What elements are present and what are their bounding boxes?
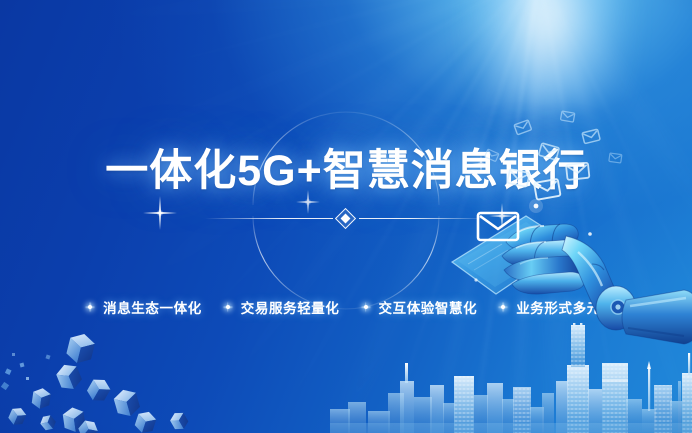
page-title: 一体化5G+智慧消息银行	[0, 150, 692, 193]
light-rays-icon	[0, 0, 692, 433]
feature-label: 交互体验智慧化	[379, 297, 478, 317]
envelope-group	[470, 105, 650, 265]
envelope-icon	[478, 213, 518, 240]
diamond-icon	[335, 208, 356, 229]
feature-item-0: 消息生态一体化	[103, 297, 215, 317]
envelope-icon	[582, 129, 600, 144]
sparkle-icon	[353, 300, 379, 314]
city-skyline-icon	[330, 323, 692, 433]
feature-label: 消息生态一体化	[103, 297, 202, 317]
sparkle-icon	[490, 300, 516, 314]
feature-label: 业务形式多元化	[516, 297, 615, 317]
page-title-text: 一体化5G+智慧消息银行	[105, 147, 586, 195]
divider-line-right	[359, 218, 487, 219]
divider-line-left	[205, 218, 333, 219]
feature-list: 消息生态一体化 交易服务轻量化 交互体验智慧化 业务形式多元化	[0, 297, 692, 317]
robot-hand-icon	[440, 170, 692, 355]
feature-item-2: 交互体验智慧化	[379, 297, 491, 317]
envelope-icon	[514, 120, 532, 135]
sparkle-icon	[296, 190, 320, 214]
circle-outline-icon	[0, 0, 692, 433]
light-source-glow	[468, 0, 628, 110]
sparkle-icon	[77, 300, 103, 314]
envelope-icon	[539, 143, 560, 160]
envelope-icon	[507, 169, 529, 187]
feature-item-3: 业务形式多元化	[516, 297, 615, 317]
sparkle-icon	[143, 196, 177, 230]
title-divider	[205, 211, 487, 227]
sparkle-icon	[472, 155, 490, 173]
envelope-icon	[485, 149, 499, 162]
banner-stage: 一体化5G+智慧消息银行 消息生态一体化 交易服务轻量化	[0, 0, 692, 433]
sparkle-icon	[215, 300, 241, 314]
vignette-overlay	[0, 0, 692, 433]
envelope-icon	[609, 153, 622, 163]
feature-label: 交易服务轻量化	[241, 297, 340, 317]
envelope-icon	[534, 179, 561, 200]
floating-cubes-icon	[0, 313, 230, 433]
sparkle-icon	[489, 203, 515, 229]
envelope-icon	[566, 163, 589, 180]
envelope-icon	[560, 111, 574, 122]
feature-item-1: 交易服务轻量化	[241, 297, 353, 317]
